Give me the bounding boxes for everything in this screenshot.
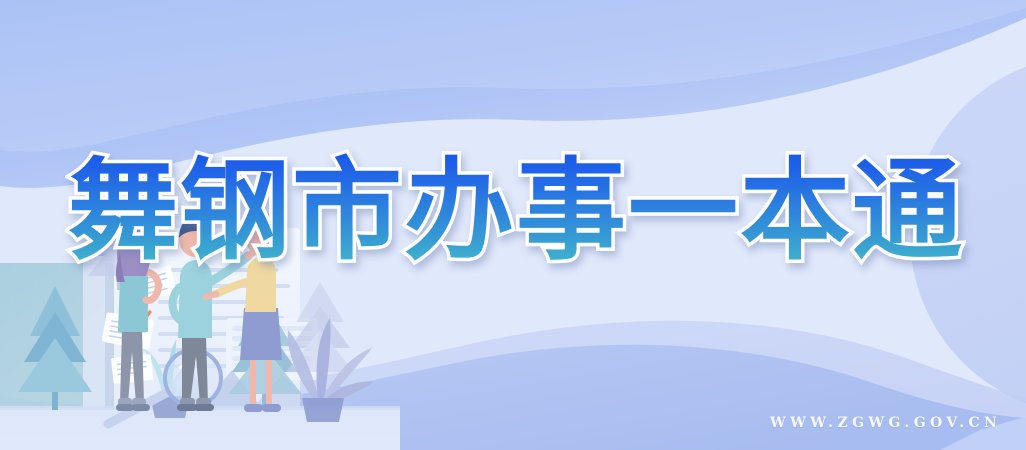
banner-illustration [0,0,400,450]
site-url-watermark: WWW.ZGWG.GOV.CN [770,415,1001,431]
site-banner: 舞钢市办事一本通 舞钢市办事一本通 WWW.ZGWG.GOV.CN [0,0,1026,450]
